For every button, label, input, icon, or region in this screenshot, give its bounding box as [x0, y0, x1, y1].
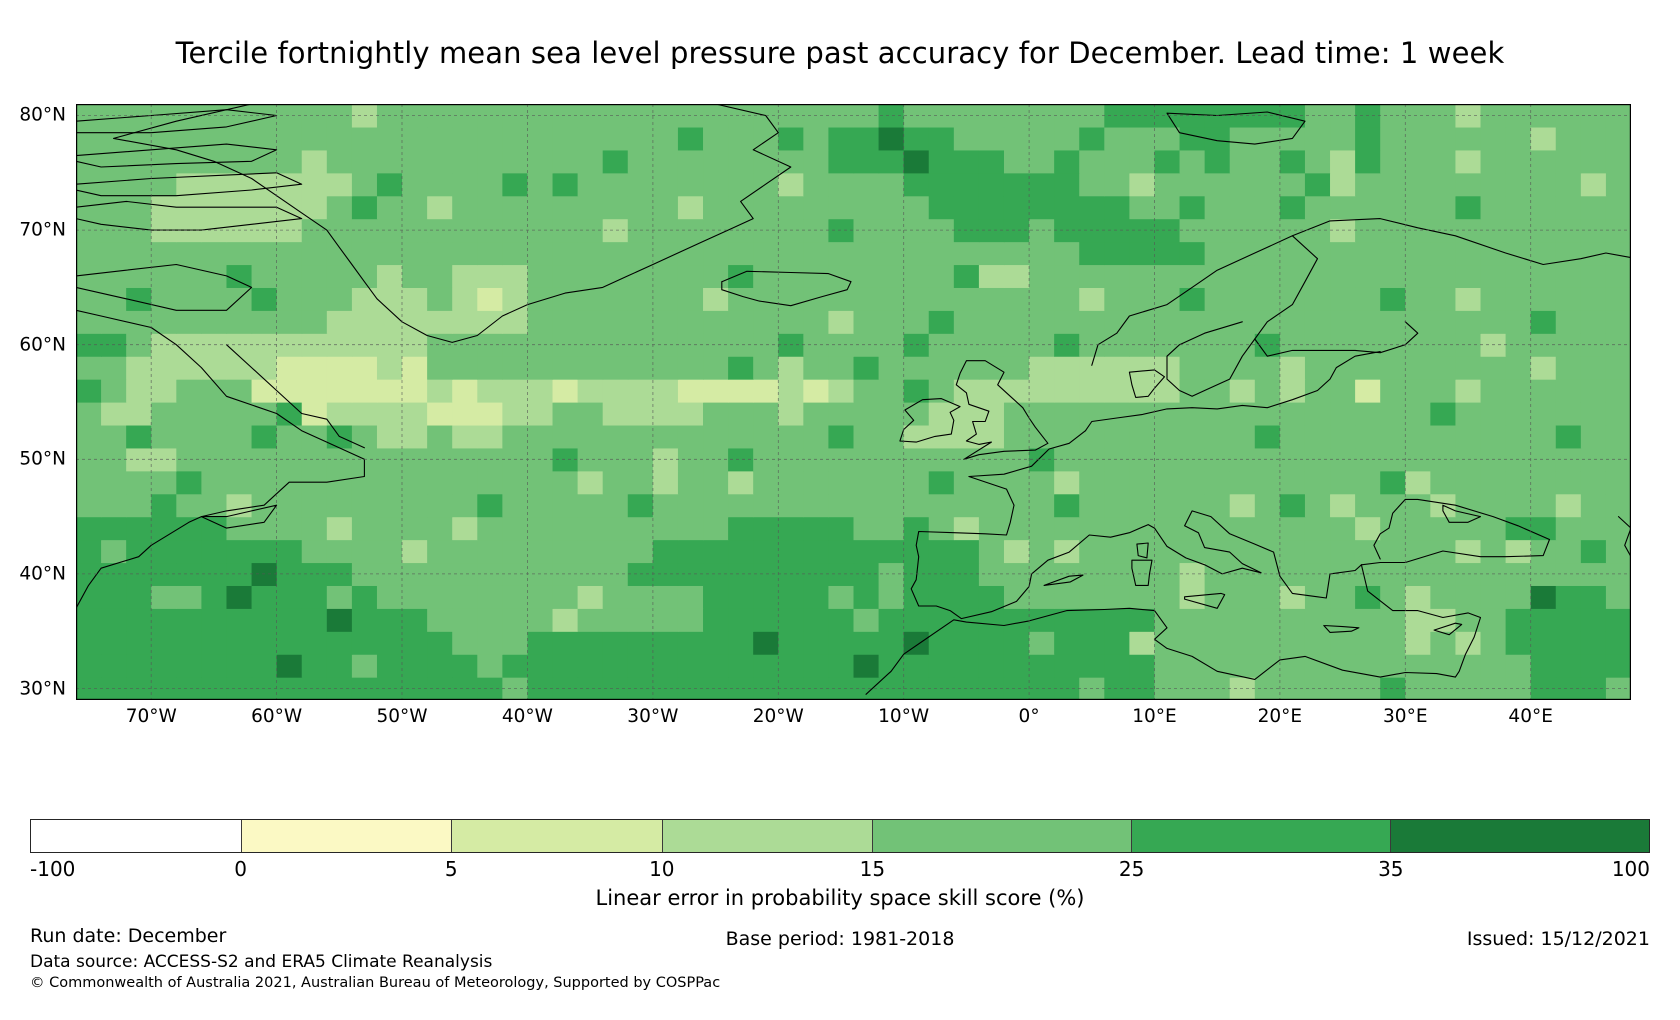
colorbar-segment-1: [241, 820, 452, 852]
colorbar-segment-2: [451, 820, 662, 852]
lon-tick-40°W: 40°W: [502, 706, 553, 727]
colorbar-tick-100: 100: [1612, 857, 1650, 881]
colorbar-tick--100: -100: [30, 857, 75, 881]
map-figure: Tercile fortnightly mean sea level press…: [0, 0, 1680, 1020]
footer-copyright: © Commonwealth of Australia 2021, Austra…: [30, 975, 720, 991]
lat-tick-50°N: 50°N: [4, 449, 66, 470]
colorbar-tick-0: 0: [234, 857, 247, 881]
lat-tick-30°N: 30°N: [4, 678, 66, 699]
lon-tick-10°W: 10°W: [878, 706, 929, 727]
lon-tick-20°W: 20°W: [753, 706, 804, 727]
colorbar-tick-5: 5: [445, 857, 458, 881]
lon-tick-20°E: 20°E: [1258, 706, 1302, 727]
colorbar[interactable]: [30, 819, 1650, 853]
colorbar-tick-15: 15: [860, 857, 885, 881]
lon-tick-30°W: 30°W: [627, 706, 678, 727]
lat-tick-70°N: 70°N: [4, 220, 66, 241]
figure-title: Tercile fortnightly mean sea level press…: [0, 36, 1680, 70]
colorbar-tick-35: 35: [1378, 857, 1403, 881]
colorbar-segment-4: [872, 820, 1131, 852]
footer-data-source: Data source: ACCESS-S2 and ERA5 Climate …: [30, 952, 492, 972]
colorbar-segment-6: [1390, 820, 1649, 852]
colorbar-label: Linear error in probability space skill …: [0, 886, 1680, 910]
colorbar-segment-5: [1131, 820, 1390, 852]
colorbar-segment-3: [662, 820, 873, 852]
lat-tick-60°N: 60°N: [4, 334, 66, 355]
colorbar-segment-0: [31, 820, 241, 852]
lat-tick-80°N: 80°N: [4, 105, 66, 126]
lon-tick-10°E: 10°E: [1132, 706, 1176, 727]
lat-tick-40°N: 40°N: [4, 563, 66, 584]
lon-tick-70°W: 70°W: [126, 706, 177, 727]
colorbar-tick-10: 10: [649, 857, 674, 881]
lon-tick-30°E: 30°E: [1383, 706, 1427, 727]
lon-tick-50°W: 50°W: [377, 706, 428, 727]
lon-tick-60°W: 60°W: [251, 706, 302, 727]
lon-tick-0°: 0°: [1019, 706, 1040, 727]
map-canvas[interactable]: [76, 104, 1631, 700]
colorbar-tick-25: 25: [1119, 857, 1144, 881]
lon-tick-40°E: 40°E: [1508, 706, 1552, 727]
footer-issued-date: Issued: 15/12/2021: [1467, 928, 1650, 950]
colorbar-gradient[interactable]: [30, 819, 1650, 853]
map-plot[interactable]: [76, 104, 1631, 700]
footer-base-period: Base period: 1981-2018: [0, 928, 1680, 950]
